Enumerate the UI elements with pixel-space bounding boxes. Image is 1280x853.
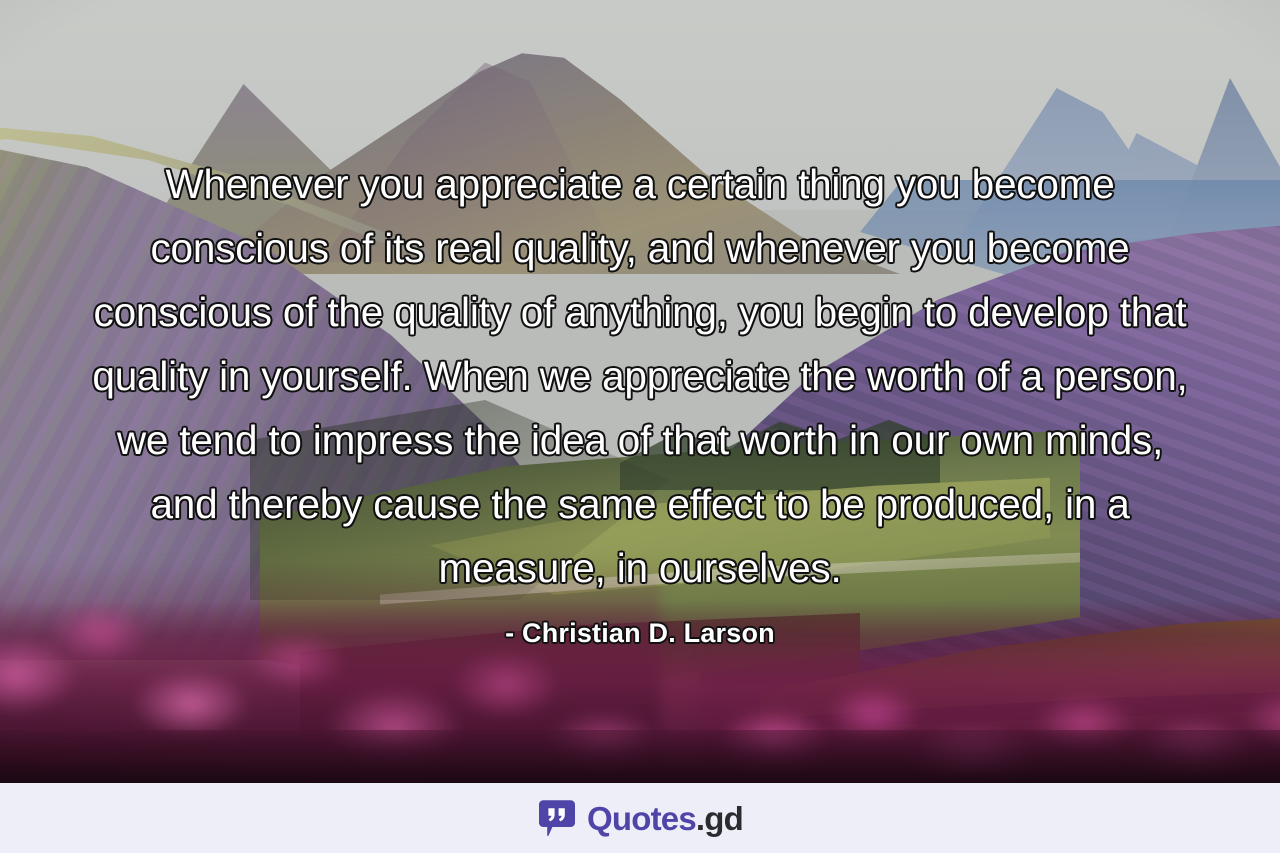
brand-name: Quotes <box>587 800 696 837</box>
quote-overlay: Whenever you appreciate a certain thing … <box>0 0 1280 783</box>
quote-author: - Christian D. Larson <box>505 618 775 649</box>
brand-tld: .gd <box>696 800 743 837</box>
site-logo[interactable]: Quotes.gd <box>537 798 743 838</box>
quote-text: Whenever you appreciate a certain thing … <box>85 152 1195 600</box>
quote-image-page: Whenever you appreciate a certain thing … <box>0 0 1280 853</box>
brand-wordmark: Quotes.gd <box>587 802 743 835</box>
footer-bar: Quotes.gd <box>0 783 1280 853</box>
quote-bubble-icon <box>537 798 577 838</box>
